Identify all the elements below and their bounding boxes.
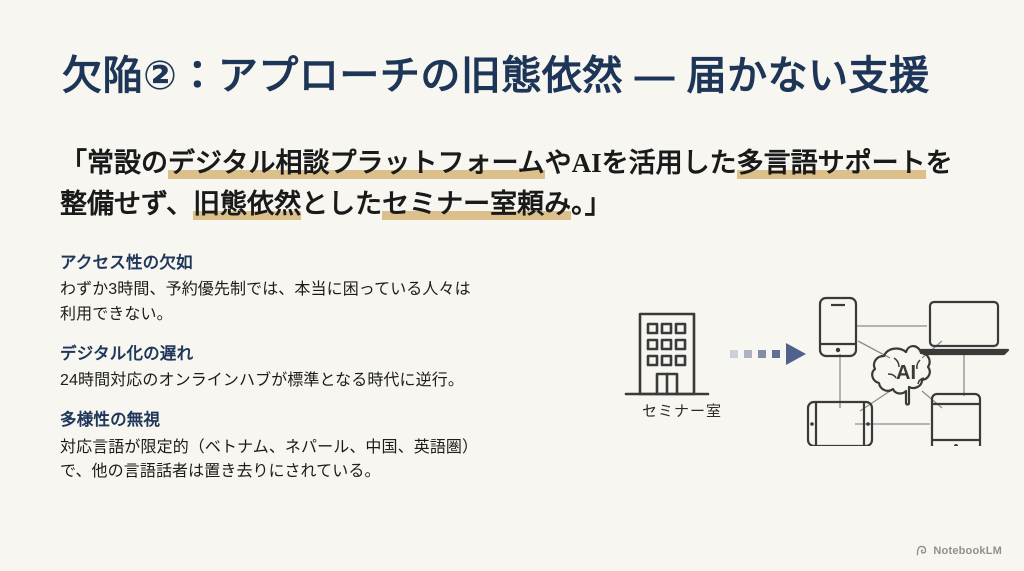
section-body: 24時間対応のオンラインハブが標準となる時代に逆行。: [60, 369, 620, 393]
ai-brain-icon: AI: [872, 346, 930, 404]
notebooklm-label: NotebookLM: [933, 545, 1002, 557]
page-title: 欠陥②：アプローチの旧態依然 ― 届かない支援: [62, 52, 930, 100]
illustration: AI: [612, 296, 1012, 446]
building-icon: [626, 314, 708, 394]
quote-segment-7-highlight: セミナー室頼み: [382, 189, 571, 220]
section-body-line: 利用できない。: [60, 303, 620, 327]
slide-canvas: 欠陥②：アプローチの旧態依然 ― 届かない支援 「常設のデジタル相談プラットフォ…: [0, 0, 1024, 571]
section-body: 対応言語が限定的（ベトナム、ネパール、中国、英語圏） で、他の言語話者は置き去り…: [60, 436, 620, 485]
section-heading: 多様性の無視: [60, 409, 620, 431]
section-digitalization: デジタル化の遅れ 24時間対応のオンラインハブが標準となる時代に逆行。: [60, 343, 620, 394]
smartphone-icon: [820, 298, 856, 356]
quote-segment-2: やAIを活用した: [545, 148, 737, 178]
section-heading: アクセス性の欠如: [60, 252, 620, 274]
building-caption: セミナー室: [612, 400, 752, 421]
arrow-icon: [730, 343, 806, 365]
quote-segment-6: とした: [301, 189, 382, 219]
section-body-line: 対応言語が限定的（ベトナム、ネパール、中国、英語圏）: [60, 436, 620, 460]
quote-segment-0: 「常設の: [60, 148, 168, 178]
quote-segment-5-highlight: 旧態依然: [193, 189, 301, 220]
laptop-icon: [920, 302, 1008, 354]
section-body: わずか3時間、予約優先制では、本当に困っている人々は 利用できない。: [60, 278, 620, 327]
sections-list: アクセス性の欠如 わずか3時間、予約優先制では、本当に困っている人々は 利用でき…: [60, 252, 620, 484]
section-body-line: で、他の言語話者は置き去りにされている。: [60, 460, 620, 484]
section-body-line: 24時間対応のオンラインハブが標準となる時代に逆行。: [60, 369, 620, 393]
section-heading: デジタル化の遅れ: [60, 343, 620, 365]
notebooklm-watermark: NotebookLM: [915, 544, 1002, 557]
notebooklm-icon: [915, 544, 928, 557]
section-access: アクセス性の欠如 わずか3時間、予約優先制では、本当に困っている人々は 利用でき…: [60, 252, 620, 327]
quote-block: 「常設のデジタル相談プラットフォームやAIを活用した多言語サポートを整備せず、旧…: [60, 143, 960, 225]
ai-brain-label: AI: [896, 362, 916, 384]
tablet-portrait-icon: [932, 394, 980, 446]
section-body-line: わずか3時間、予約優先制では、本当に困っている人々は: [60, 278, 620, 302]
section-diversity: 多様性の無視 対応言語が限定的（ベトナム、ネパール、中国、英語圏） で、他の言語…: [60, 409, 620, 484]
quote-segment-8: 。」: [571, 189, 612, 219]
quote-segment-1-highlight: デジタル相談プラットフォーム: [168, 148, 545, 179]
quote-segment-3-highlight: 多言語サポート: [737, 148, 926, 179]
